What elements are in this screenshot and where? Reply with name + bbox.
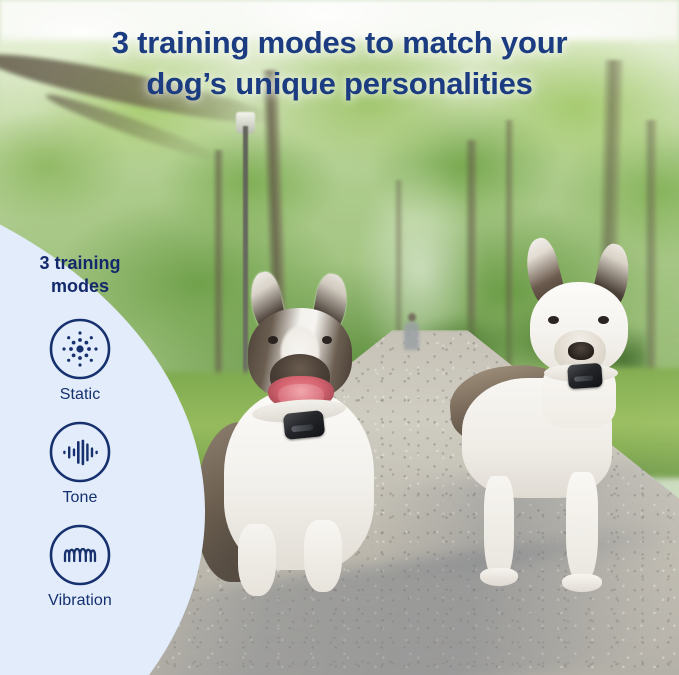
training-collar-device bbox=[283, 410, 325, 440]
training-mode-label-tone: Tone bbox=[0, 489, 160, 507]
training-modes-panel-content: 3 training modes bbox=[0, 152, 160, 675]
dog-paw bbox=[480, 568, 518, 586]
dog-leg bbox=[484, 476, 514, 580]
panel-title: 3 training modes bbox=[0, 252, 160, 298]
dog-eye bbox=[598, 316, 609, 324]
training-mode-label-vibration: Vibration bbox=[0, 592, 160, 610]
training-modes-list: Static bbox=[0, 318, 160, 610]
dog-eye bbox=[322, 336, 332, 344]
dog-sitting-left bbox=[196, 272, 426, 602]
dog-leg bbox=[238, 524, 276, 596]
training-mode-static: Static bbox=[0, 318, 160, 404]
dog-leg bbox=[304, 520, 342, 592]
headline-line-1: 3 training modes to match your bbox=[112, 25, 568, 60]
static-radiating-dots-icon bbox=[49, 318, 111, 380]
headline: 3 training modes to match your dog’s uni… bbox=[0, 22, 679, 104]
training-mode-vibration: Vibration bbox=[0, 524, 160, 610]
promo-image: 3 training modes to match your dog’s uni… bbox=[0, 0, 679, 675]
dog-nose bbox=[568, 342, 594, 360]
dog-leg bbox=[566, 472, 598, 582]
dog-eye bbox=[268, 336, 278, 344]
headline-line-2: dog’s unique personalities bbox=[0, 63, 679, 104]
training-mode-tone: Tone bbox=[0, 421, 160, 507]
dog-paw bbox=[562, 574, 602, 592]
vibration-wave-icon bbox=[49, 524, 111, 586]
training-collar-device bbox=[567, 363, 603, 389]
tone-soundwave-bars-icon bbox=[49, 421, 111, 483]
dog-eye bbox=[548, 316, 559, 324]
dog-standing-right bbox=[450, 238, 665, 598]
training-mode-label-static: Static bbox=[0, 386, 160, 404]
